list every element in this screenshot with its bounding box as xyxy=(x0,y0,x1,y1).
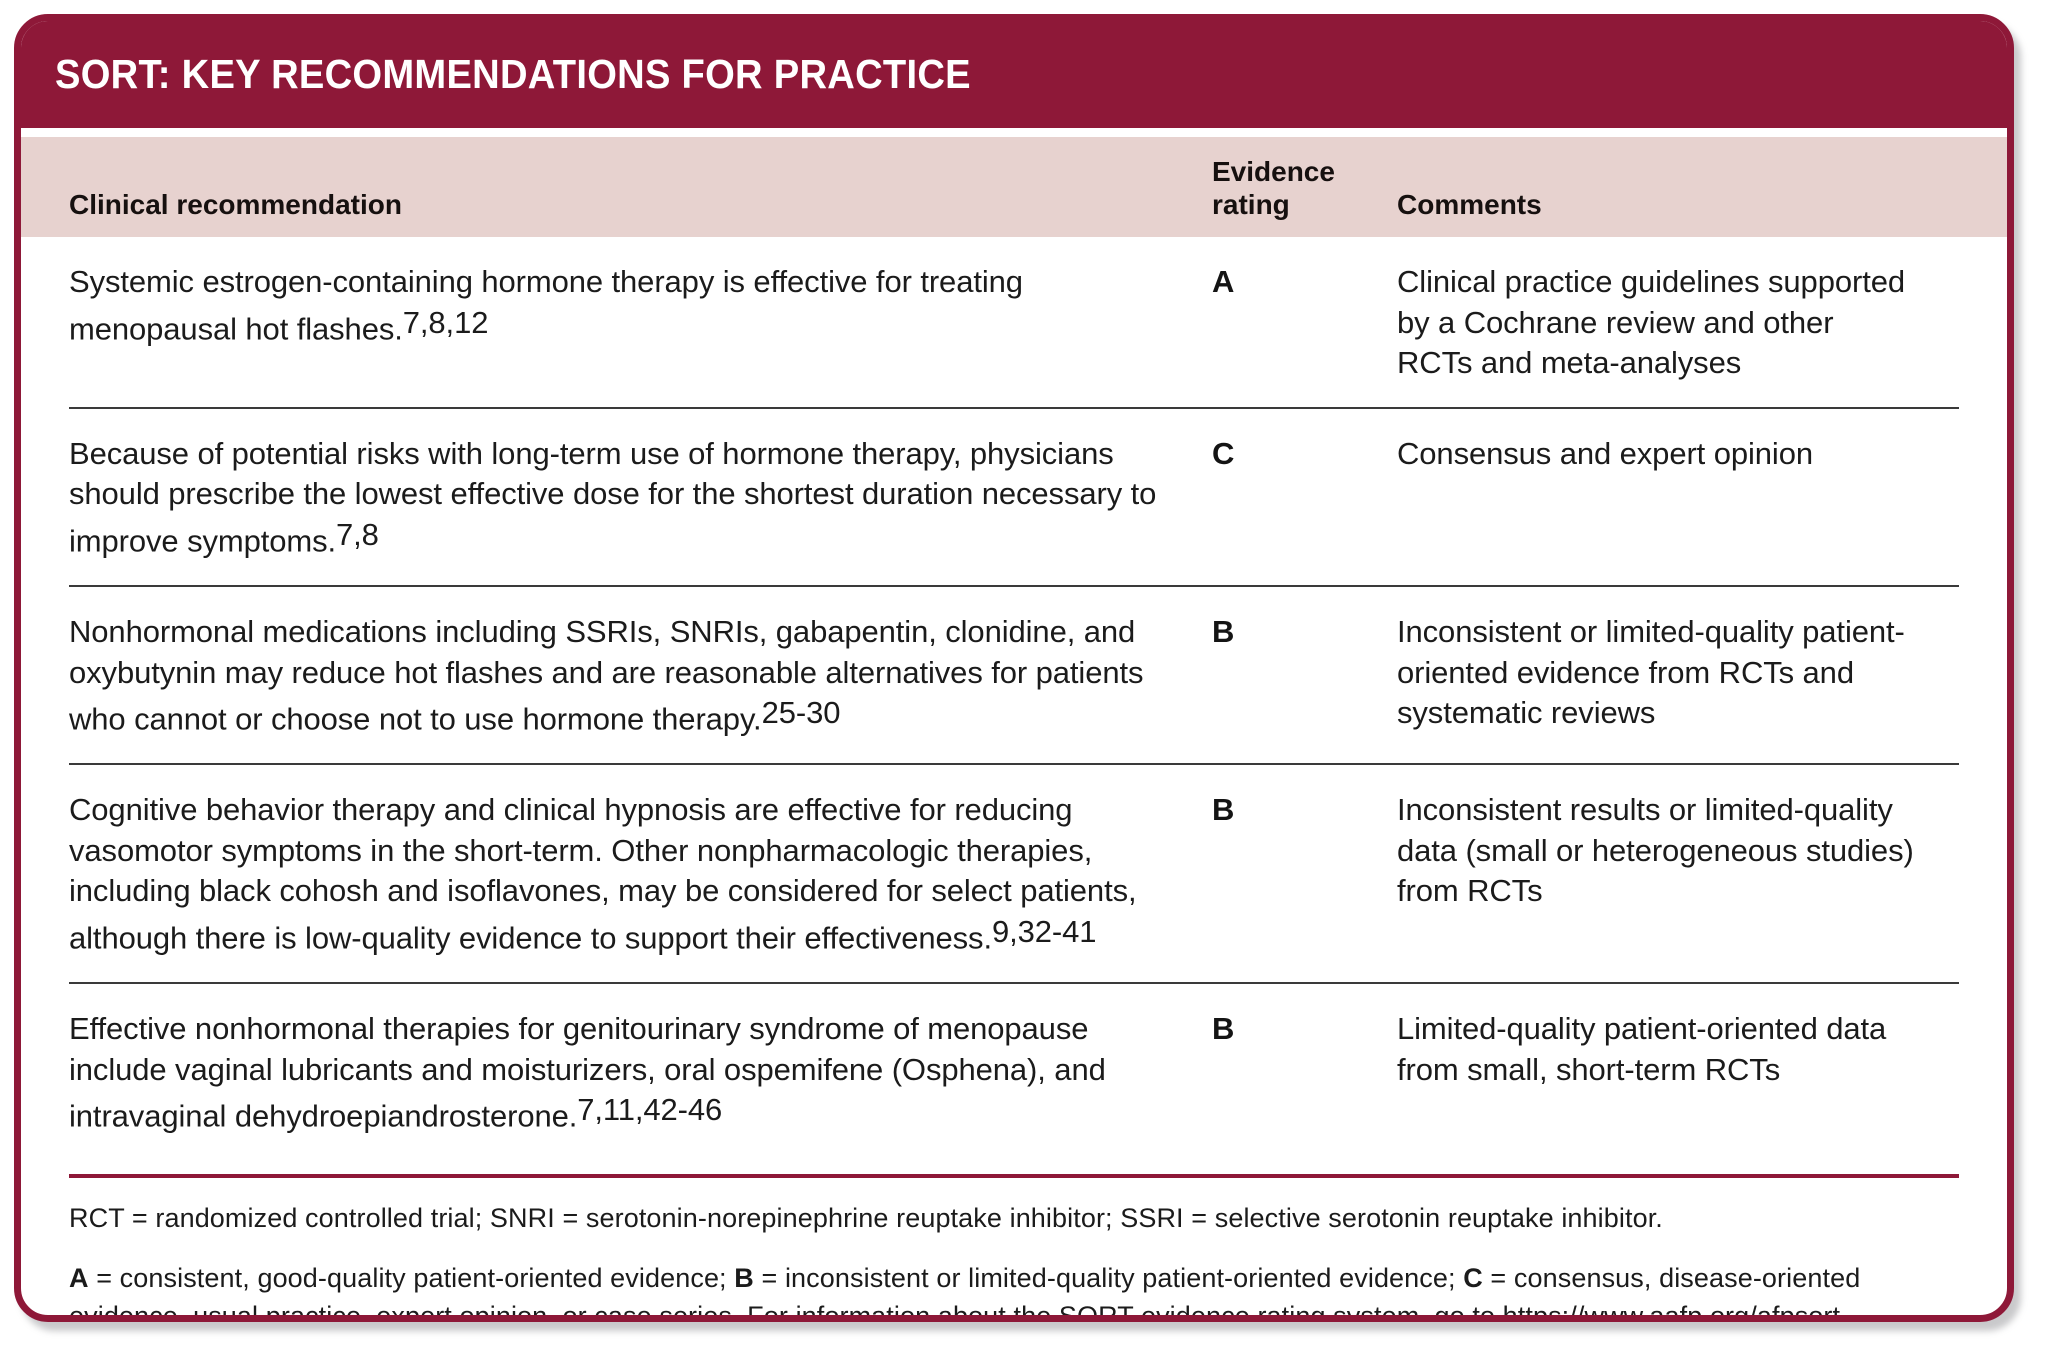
evidence-rating-value: B xyxy=(1212,792,1234,827)
rating-key-a-label: A xyxy=(69,1263,89,1293)
comments-text: Inconsistent or limited-quality patient-… xyxy=(1397,614,1905,730)
footnotes-section: RCT = randomized controlled trial; SNRI … xyxy=(21,1178,2007,1322)
evidence-rating-value: A xyxy=(1212,264,1234,299)
cell-comments: Inconsistent results or limited-quality … xyxy=(1381,790,1941,912)
column-header-evidence-rating: Evidence rating xyxy=(1206,156,1381,221)
table-row: Effective nonhormonal therapies for geni… xyxy=(69,984,1959,1160)
table-header-row: Clinical recommendation Evidence rating … xyxy=(21,137,2007,237)
comments-text: Consensus and expert opinion xyxy=(1397,436,1813,471)
column-header-evidence-rating-line1: Evidence xyxy=(1212,156,1381,188)
page-root: SORT: KEY RECOMMENDATIONS FOR PRACTICE C… xyxy=(0,0,2051,1348)
cell-evidence-rating: C xyxy=(1206,434,1381,475)
evidence-rating-value: B xyxy=(1212,1011,1234,1046)
table-rows-container: Systemic estrogen-containing hormone the… xyxy=(21,237,2007,1160)
page-title: SORT: KEY RECOMMENDATIONS FOR PRACTICE xyxy=(55,54,971,95)
evidence-rating-value: C xyxy=(1212,436,1234,471)
table-title-bar: SORT: KEY RECOMMENDATIONS FOR PRACTICE xyxy=(21,21,2007,128)
cell-evidence-rating: B xyxy=(1206,1009,1381,1050)
recommendation-references: 7,11,42-46 xyxy=(577,1092,722,1127)
table-row: Because of potential risks with long-ter… xyxy=(69,409,1959,587)
column-header-recommendation: Clinical recommendation xyxy=(21,189,1206,221)
recommendation-text: Cognitive behavior therapy and clinical … xyxy=(69,792,1137,955)
cell-recommendation: Systemic estrogen-containing hormone the… xyxy=(69,262,1206,350)
cell-evidence-rating: B xyxy=(1206,790,1381,831)
column-header-evidence-rating-line2: rating xyxy=(1212,189,1381,221)
cell-recommendation: Nonhormonal medications including SSRIs,… xyxy=(69,612,1206,740)
column-header-comments: Comments xyxy=(1381,189,1941,221)
table-body: Clinical recommendation Evidence rating … xyxy=(21,128,2007,1160)
rating-key-c-label: C xyxy=(1463,1263,1483,1293)
recommendation-references: 25-30 xyxy=(762,695,841,730)
cell-comments: Limited-quality patient-oriented data fr… xyxy=(1381,1009,1941,1090)
cell-comments: Inconsistent or limited-quality patient-… xyxy=(1381,612,1941,734)
evidence-rating-value: B xyxy=(1212,614,1234,649)
comments-text: Limited-quality patient-oriented data fr… xyxy=(1397,1011,1886,1087)
recommendation-text: Because of potential risks with long-ter… xyxy=(69,436,1156,559)
rating-key-b-text: = inconsistent or limited-quality patien… xyxy=(754,1263,1463,1293)
recommendation-text: Nonhormonal medications including SSRIs,… xyxy=(69,614,1143,737)
cell-recommendation: Effective nonhormonal therapies for geni… xyxy=(69,1009,1206,1137)
recommendation-references: 7,8 xyxy=(336,517,379,552)
header-gap xyxy=(21,128,2007,137)
cell-recommendation: Cognitive behavior therapy and clinical … xyxy=(69,790,1206,959)
cell-comments: Consensus and expert opinion xyxy=(1381,434,1941,475)
cell-evidence-rating: B xyxy=(1206,612,1381,653)
cell-recommendation: Because of potential risks with long-ter… xyxy=(69,434,1206,562)
footnote-rating-key: A = consistent, good-quality patient-ori… xyxy=(69,1260,1955,1322)
sort-table-card: SORT: KEY RECOMMENDATIONS FOR PRACTICE C… xyxy=(14,14,2014,1322)
cell-comments: Clinical practice guidelines supported b… xyxy=(1381,262,1941,384)
comments-text: Clinical practice guidelines supported b… xyxy=(1397,264,1905,380)
cell-evidence-rating: A xyxy=(1206,262,1381,303)
table-row: Systemic estrogen-containing hormone the… xyxy=(69,237,1959,409)
table-row: Nonhormonal medications including SSRIs,… xyxy=(69,587,1959,765)
recommendation-text: Systemic estrogen-containing hormone the… xyxy=(69,264,1023,346)
rating-key-a-text: = consistent, good-quality patient-orien… xyxy=(89,1263,735,1293)
footnote-abbreviations: RCT = randomized controlled trial; SNRI … xyxy=(69,1200,1955,1238)
comments-text: Inconsistent results or limited-quality … xyxy=(1397,792,1914,908)
rating-key-b-label: B xyxy=(734,1263,754,1293)
recommendation-references: 9,32-41 xyxy=(992,914,1096,949)
recommendation-references: 7,8,12 xyxy=(403,305,489,340)
table-row: Cognitive behavior therapy and clinical … xyxy=(69,765,1959,984)
